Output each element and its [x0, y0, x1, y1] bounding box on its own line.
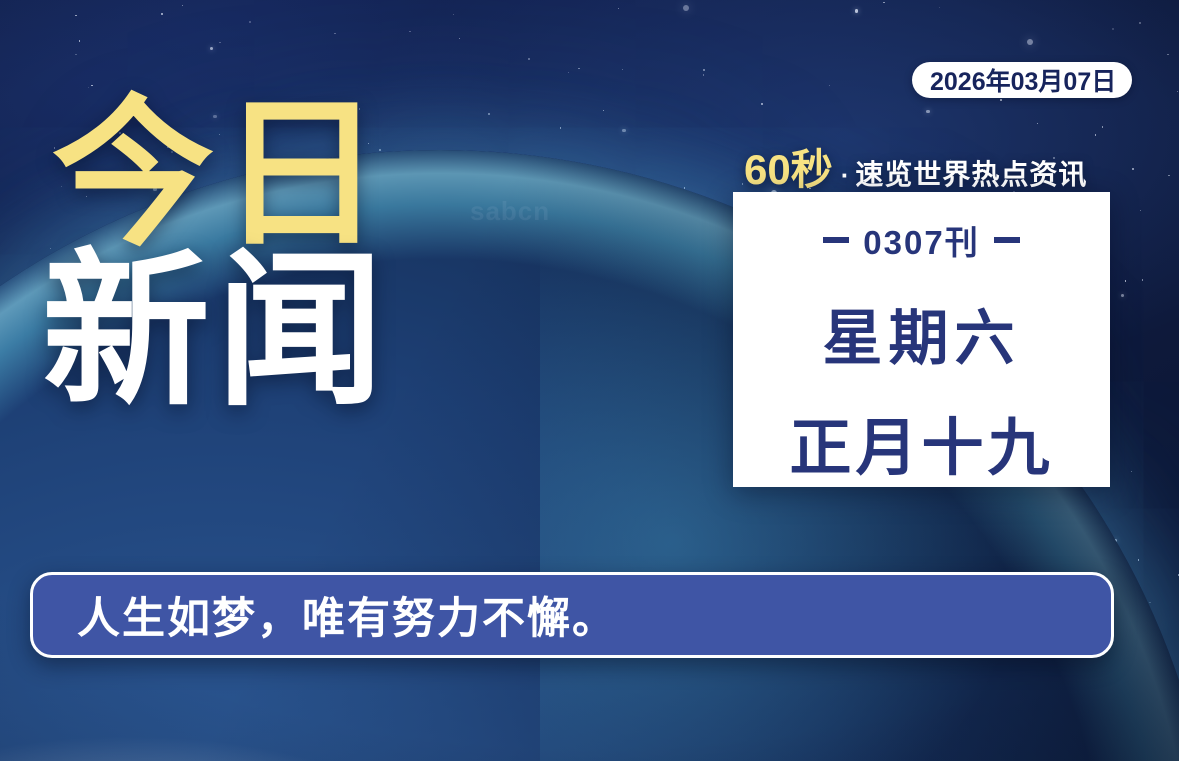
issue-number: 0307刊	[863, 216, 979, 264]
tagline-highlight: 60秒	[744, 136, 833, 197]
quote-bar: 人生如梦，唯有努力不懈。	[30, 572, 1114, 658]
news-poster: sabcn 今日 新闻 2026年03月07日 60秒 · 速览世界热点资讯 0…	[0, 0, 1179, 761]
lunar-date-label: 正月十九	[789, 397, 1053, 487]
issue-number-row: 0307刊	[823, 216, 1019, 264]
tagline: 60秒 · 速览世界热点资讯	[744, 136, 1087, 197]
page-title: 今日 新闻	[52, 96, 472, 413]
tagline-separator: ·	[841, 160, 850, 191]
issue-dash-left-icon	[823, 237, 849, 243]
date-info-card: 0307刊 星期六 正月十九	[733, 192, 1110, 487]
page-title-line-1: 今日	[52, 96, 472, 255]
page-title-line-2: 新闻	[42, 249, 472, 414]
date-badge: 2026年03月07日	[912, 62, 1132, 98]
tagline-text: 速览世界热点资讯	[855, 153, 1087, 193]
weekday-label: 星期六	[823, 290, 1021, 377]
quote-text: 人生如梦，唯有努力不懈。	[77, 584, 617, 646]
issue-dash-right-icon	[994, 237, 1020, 243]
